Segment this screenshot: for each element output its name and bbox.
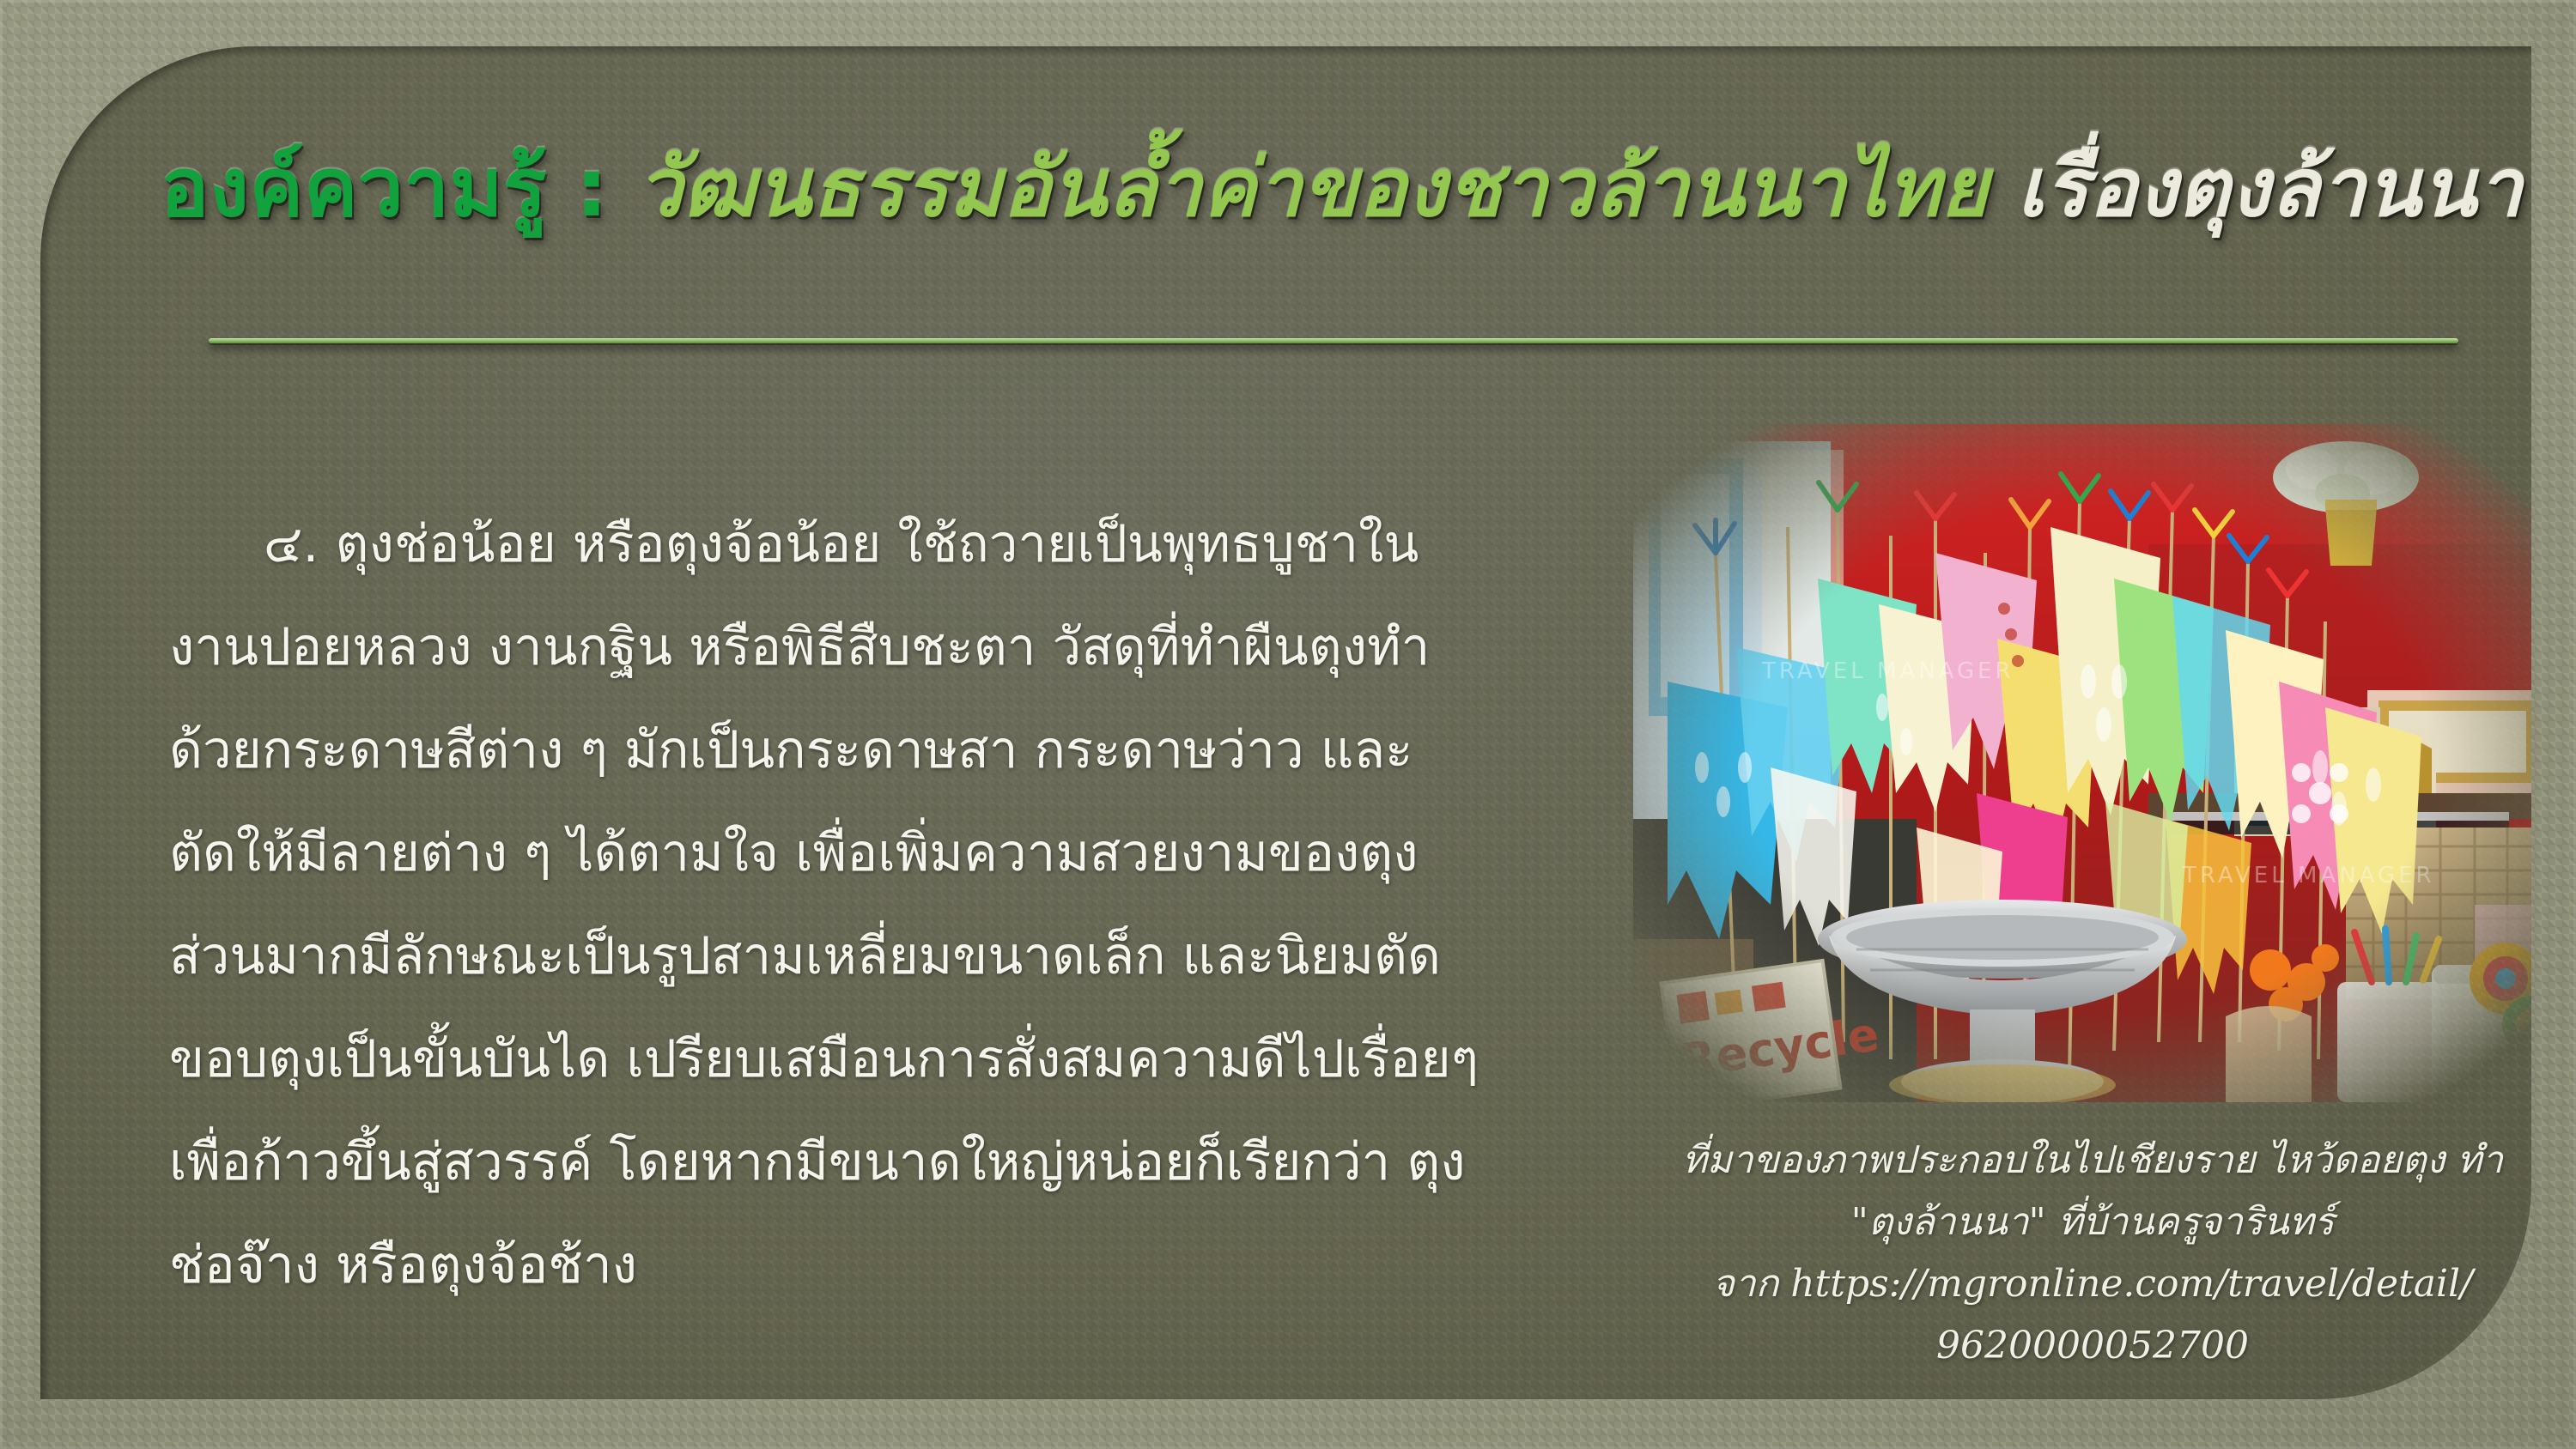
title-segment-chapter: เรื่องตุงล้านนา [2017, 141, 2523, 235]
body-line: ด้วยกระดาษสีต่าง ๆ มักเป็นกระดาษสา กระดา… [169, 699, 1577, 802]
title-divider-rule [209, 338, 2458, 343]
photo-watermark-top: TRAVEL MANAGER [1761, 658, 2014, 684]
title-segment-subject: วัฒนธรรมอันล้ำค่าของชาวล้านนาไทย [637, 141, 2017, 235]
body-paragraph: ๔. ตุงช่อน้อย หรือตุงจ้อน้อย ใช้ถวายเป็น… [169, 493, 1577, 1317]
body-line: ส่วนมากมีลักษณะเป็นรูปสามเหลี่ยมขนาดเล็ก… [169, 905, 1577, 1008]
title-segment-topic: องค์ความรู้ : [161, 142, 637, 235]
caption-line: "ตุงล้านนา" ที่บ้านครูจารินทร์ [1612, 1191, 2531, 1253]
caption-line: จาก https://mgronline.com/travel/detail/ [1612, 1253, 2531, 1315]
caption-line: ที่มาของภาพประกอบในไปเชียงราย ไหว้ดอยตุง… [1612, 1130, 2531, 1191]
photo-image: Recycle TRAVEL MANAGER TRAVEL MANAGER [1633, 424, 2531, 1102]
page-title-text: องค์ความรู้ : วัฒนธรรมอันล้ำค่าของชาวล้า… [161, 148, 2496, 229]
body-line: ๔. ตุงช่อน้อย หรือตุงจ้อน้อย ใช้ถวายเป็น… [169, 493, 1577, 596]
slide-inner-panel: องค์ความรู้ : วัฒนธรรมอันล้ำค่าของชาวล้า… [40, 46, 2531, 1399]
illustration-photo: Recycle TRAVEL MANAGER TRAVEL MANAGER [1633, 424, 2531, 1102]
photo-caption: ที่มาของภาพประกอบในไปเชียงราย ไหว้ดอยตุง… [1612, 1130, 2531, 1377]
body-line: งานปอยหลวง งานกฐิน หรือพิธีสืบชะตา วัสดุ… [169, 596, 1577, 699]
body-line: ช่อจ๊าง หรือตุงจ้อช้าง [169, 1214, 1577, 1317]
slide-canvas: องค์ความรู้ : วัฒนธรรมอันล้ำค่าของชาวล้า… [0, 0, 2576, 1449]
page-title: องค์ความรู้ : วัฒนธรรมอันล้ำค่าของชาวล้า… [161, 148, 2496, 229]
caption-line: 9620000052700 [1612, 1315, 2531, 1377]
photo-watermark-bottom: TRAVEL MANAGER [2182, 863, 2435, 888]
photo-artwork: Recycle TRAVEL MANAGER TRAVEL MANAGER [1633, 424, 2531, 1102]
body-line: เพื่อก้าวขึ้นสู่สวรรค์ โดยหากมีขนาดใหญ่ห… [169, 1111, 1577, 1214]
body-line: ตัดให้มีลายต่าง ๆ ได้ตามใจ เพื่อเพิ่มควา… [169, 802, 1577, 905]
body-line: ขอบตุงเป็นขั้นบันได เปรียบเสมือนการสั่งส… [169, 1008, 1577, 1111]
